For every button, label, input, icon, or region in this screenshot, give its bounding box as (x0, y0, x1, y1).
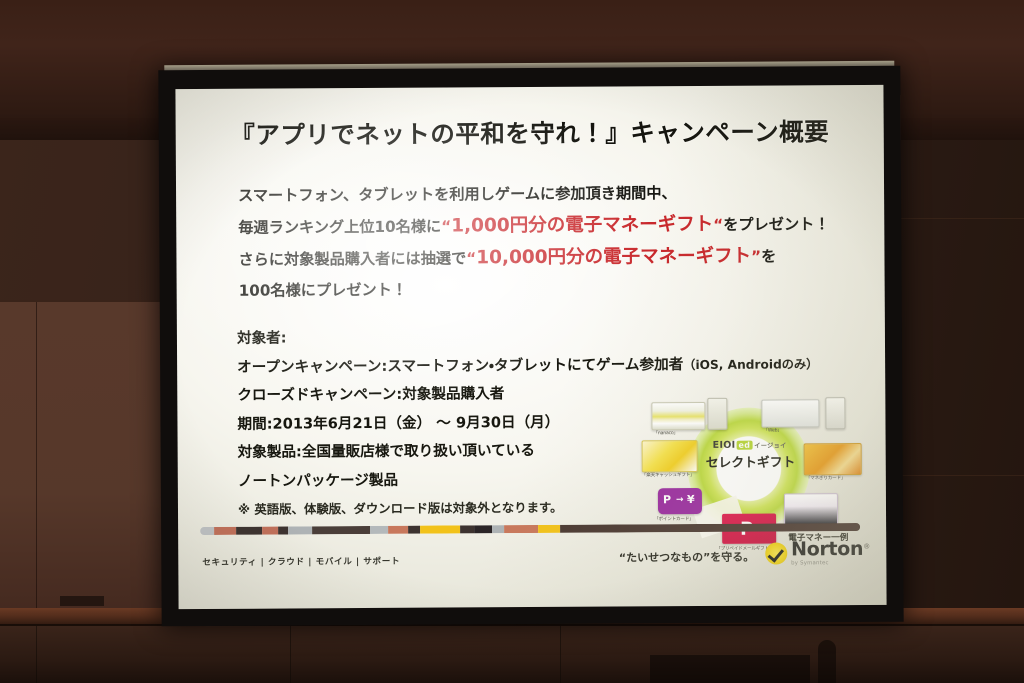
intro-line-1: スマートフォン、タブレットを利用しゲームに参加頂き期間中、 (238, 177, 838, 212)
right-wall-seam-2 (900, 475, 1024, 476)
color-bar-segment-7 (370, 526, 388, 534)
lower-wall-seam-3 (560, 626, 561, 683)
intro-line-2-quote-close: “ (713, 216, 723, 234)
detail-row-2-label: 期間 (237, 415, 266, 432)
intro-line-3-suffix: を (761, 247, 776, 265)
eidi-logo-reading: イージョイ (754, 442, 786, 449)
detail-row-4-value: ノートンパッケージ製品 (238, 471, 398, 489)
ring-center-label: EIOIedイージョイ セレクトギフト (706, 439, 794, 492)
intro-line-4-text: 100名様にプレゼント！ (239, 281, 407, 300)
detail-row-0-value: スマートフォン・タブレットにてゲーム参加者 (387, 356, 683, 375)
detail-row-3-value: 全国量販店様で取り扱い頂いている (302, 442, 535, 460)
color-bar-segment-8 (388, 526, 408, 534)
intro-line-4: 100名様にプレゼント！ (239, 272, 839, 307)
reader-card-caption: 「マネぎりカード」 (806, 475, 846, 481)
norton-logo: Norton® by Symantec (765, 540, 870, 567)
color-bar-segment-12 (474, 525, 492, 533)
footer-nav-separator: | (257, 558, 268, 568)
detail-row-3-label: 対象製品 (238, 443, 296, 460)
gift-card-lemon (642, 440, 698, 472)
intro-line-2-prefix: 毎週ランキング上位10名様に (238, 218, 441, 237)
mobile-phone-left (707, 398, 727, 430)
details-heading: 対象者: (237, 321, 857, 353)
intro-line-2-quote-open: “ (441, 217, 451, 235)
foreground-object-right (818, 640, 836, 683)
left-wall-seam (36, 302, 37, 614)
color-bar-segment-9 (408, 526, 420, 534)
color-bar-segment-6 (312, 526, 370, 534)
gift-card-topleft-caption: 「nanaco」 (654, 430, 678, 436)
color-bar-segment-14 (504, 525, 538, 533)
intro-line-2-highlight: 1,000円分の電子マネーギフト (451, 214, 713, 237)
color-bar-segment-4 (278, 526, 288, 534)
eidi-logo-text: EIOI (713, 440, 736, 451)
mobile-phone-right (825, 397, 845, 429)
intro-line-3-quote-close: ” (751, 248, 761, 266)
point-exchange-card: P → ¥ (658, 488, 702, 514)
color-bar-segment-2 (236, 527, 262, 535)
detail-row-2-value: 2013年6月21日（金） 〜 9月30日（月） (272, 413, 559, 432)
lower-wall-seam-2 (290, 626, 291, 683)
lower-wall-seam-1 (36, 626, 37, 683)
intro-line-3-prefix: さらに対象製品購入者には抽選で (238, 249, 466, 268)
color-bar-segment-10 (420, 525, 460, 533)
eidi-logo-mark: ed (736, 441, 752, 450)
footer-nav-item-2[interactable]: モバイル (316, 557, 353, 567)
detail-row-open-campaign: オープンキャンペーン:スマートフォン・タブレットにてゲーム参加者（iOS, An… (237, 350, 857, 382)
intro-line-1-text: スマートフォン、タブレットを利用しゲームに参加頂き期間中、 (238, 184, 677, 205)
projected-slide: 『アプリでネットの平和を守れ！』キャンペーン概要 スマートフォン、タブレットを利… (175, 85, 886, 609)
presentation-room-scene: 『アプリでネットの平和を守れ！』キャンペーン概要 スマートフォン、タブレットを利… (0, 0, 1024, 683)
intro-line-2-suffix: をプレゼント！ (723, 215, 829, 234)
norton-wordmark-block: Norton® by Symantec (791, 540, 870, 566)
norton-by-symantec: by Symantec (791, 560, 870, 566)
color-bar-segment-15 (538, 525, 560, 533)
intro-line-2: 毎週ランキング上位10名様に“1,000円分の電子マネーギフト“をプレゼント！ (238, 208, 838, 244)
intro-line-3-quote-open: “ (466, 249, 476, 267)
norton-checkmark-icon (765, 542, 787, 564)
color-bar-segment-1 (214, 527, 236, 535)
projection-screen-frame: 『アプリでネットの平和を守れ！』キャンペーン概要 スマートフォン、タブレットを利… (158, 66, 903, 627)
eidi-logo: EIOIedイージョイ (706, 439, 794, 451)
ledge-small-item (60, 596, 104, 606)
color-bar-segment-13 (492, 525, 504, 533)
left-wall-top-edge (0, 300, 168, 302)
foreground-object-left (650, 655, 810, 683)
detail-row-0-label: オープンキャンペーン (237, 357, 381, 375)
point-yen-glyph: ¥ (687, 493, 695, 506)
gift-card-lemon-caption: 「楽天キャッシュギフト」 (642, 472, 695, 478)
intro-line-3-highlight: 10,000円分の電子マネーギフト (476, 246, 751, 269)
detail-row-1-label: クローズドキャンペーン (237, 386, 396, 404)
footer-nav: セキュリティ | クラウド | モバイル | サポート (202, 555, 400, 568)
footer-nav-item-0[interactable]: セキュリティ (202, 558, 257, 568)
color-bar-segment-0 (200, 527, 214, 535)
keyboard-card (761, 399, 819, 427)
right-wall-seam-1 (900, 218, 1024, 219)
lower-wall (0, 626, 1024, 683)
norton-trademark: ® (863, 543, 870, 551)
footer-nav-separator: | (305, 557, 316, 567)
footer-nav-item-1[interactable]: クラウド (268, 557, 305, 567)
norton-wordmark: Norton (791, 538, 863, 560)
detail-row-0-paren: （iOS, Androidのみ） (683, 357, 818, 372)
slide-title: 『アプリでネットの平和を守れ！』キャンペーン概要 (176, 113, 884, 152)
gift-card-topleft (651, 402, 705, 430)
reader-card (804, 443, 862, 475)
norton-tagline: “たいせつなもの”を守る。 (619, 549, 755, 566)
color-bar-segment-3 (262, 527, 278, 535)
left-wall-panel (0, 300, 168, 618)
footer-nav-separator: | (352, 557, 363, 567)
color-bar-segment-11 (460, 525, 474, 533)
point-exchange-card-caption: 「ポイントカード」 (654, 516, 694, 522)
keyboard-card-caption: 「Web」 (764, 427, 782, 433)
color-bar-segment-5 (288, 526, 312, 534)
footer-nav-item-3[interactable]: サポート (363, 557, 400, 567)
select-gift-title: セレクトギフト (706, 451, 794, 471)
point-arrow-glyph: → (676, 495, 684, 505)
slide-intro-block: スマートフォン、タブレットを利用しゲームに参加頂き期間中、 毎週ランキング上位1… (238, 177, 839, 307)
intro-line-3: さらに対象製品購入者には抽選で“10,000円分の電子マネーギフト”を (238, 240, 838, 276)
point-p-glyph: P (663, 493, 671, 506)
detail-row-1-value: 対象製品購入者 (402, 385, 504, 403)
webmoney-gift-card (784, 493, 838, 525)
